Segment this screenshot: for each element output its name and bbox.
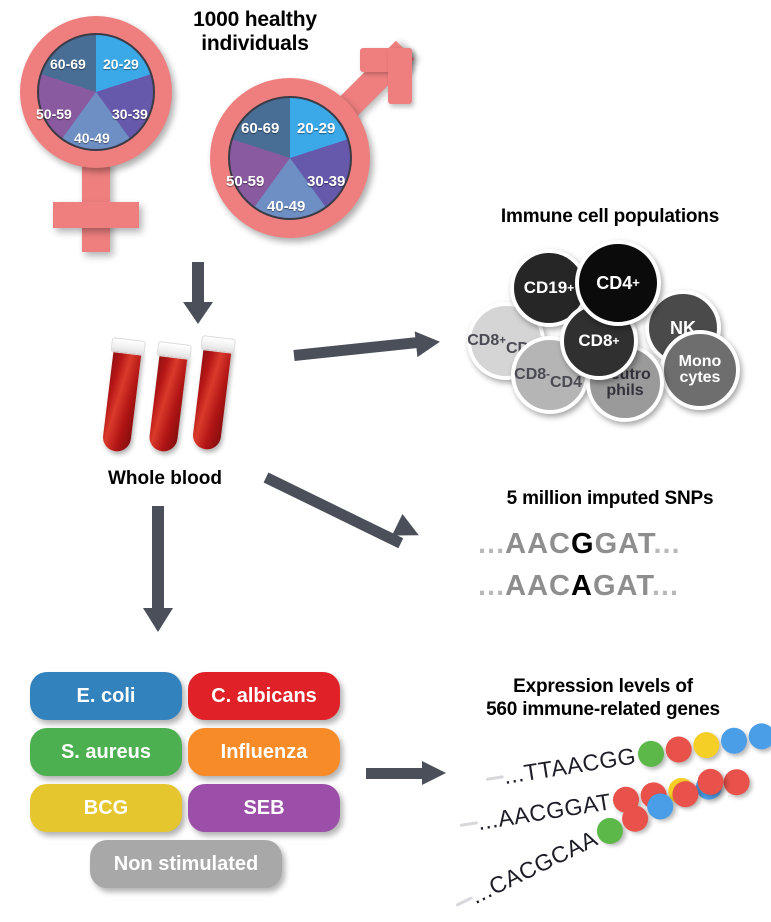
male-symbol-arrow-head-vertical <box>388 48 412 104</box>
pie-label-50-59-male: 50-59 <box>226 173 264 190</box>
expression-bead <box>719 725 749 755</box>
snp-before: AAC <box>505 570 571 602</box>
arrow-shaft <box>293 337 419 361</box>
cell-circle-monocytes: Monocytes <box>660 330 740 410</box>
arrow-shaft <box>366 768 424 779</box>
stimulus-box-non-stimulated[interactable]: Non stimulated <box>90 840 282 888</box>
pie-label-20-29-male: 20-29 <box>297 120 335 137</box>
arrow-shaft <box>264 473 404 549</box>
stimulus-box-bcg[interactable]: BCG <box>30 784 182 832</box>
arrow-blood-to-snps <box>266 468 456 558</box>
strand-tail <box>460 821 478 827</box>
pie-label-50-59-female: 50-59 <box>36 106 72 122</box>
tube-blood-fill <box>148 350 188 453</box>
immune-panel-title: Immune cell populations <box>455 206 765 228</box>
snp-sequence-row: ...AACGGAT... <box>478 528 681 561</box>
stimulus-box-s-aureus[interactable]: S. aureus <box>30 728 182 776</box>
arrow-head <box>183 302 213 324</box>
snp-variant: G <box>571 528 595 560</box>
expression-bead <box>746 721 771 751</box>
female-gender-symbol: 60-69 20-29 50-59 30-39 40-49 <box>8 12 198 252</box>
snp-after: GAT <box>593 570 652 602</box>
arrow-blood-to-immune-cells <box>294 330 454 370</box>
pie-label-20-29-female: 20-29 <box>103 56 139 72</box>
strand-tail <box>455 896 472 907</box>
arrow-head <box>422 761 446 785</box>
snp-prefix: ... <box>478 528 505 560</box>
snp-suffix: ... <box>652 570 679 602</box>
tube-blood-fill <box>191 344 231 451</box>
arrow-head <box>415 329 442 357</box>
immune-cell-cluster: CD19+ CD4+ NK CD8+CD4+ CD8+ Monocytes CD… <box>455 240 765 420</box>
blood-tube <box>101 346 141 453</box>
arrow-head <box>143 608 173 632</box>
snp-sequence-row: ...AACAGAT... <box>478 570 679 603</box>
expression-bead <box>663 734 693 764</box>
strand-tail <box>486 775 504 781</box>
expression-panel-title: Expression levels of 560 immune-related … <box>438 676 768 722</box>
pie-label-60-69-female: 60-69 <box>50 56 86 72</box>
whole-blood-tubes <box>108 340 248 458</box>
strand-sequence-text: ...CACGCAA <box>466 825 602 910</box>
expression-bead <box>636 739 666 769</box>
snp-suffix: ... <box>653 528 680 560</box>
snp-prefix: ... <box>478 570 505 602</box>
cell-circle-cd4-positive: CD4+ <box>575 240 661 326</box>
pie-label-30-39-female: 30-39 <box>112 106 148 122</box>
pie-label-40-49-female: 40-49 <box>74 130 110 146</box>
stimulus-box-e-coli[interactable]: E. coli <box>30 672 182 720</box>
expression-strands: ...TTAACGG ...AACGGAT ...CACGCAA <box>468 744 768 914</box>
expression-bead <box>722 767 752 797</box>
blood-tube <box>148 350 188 453</box>
arrow-shaft <box>192 262 204 306</box>
snp-sequences: ...AACGGAT... ...AACAGAT... <box>478 528 748 620</box>
arrow-shaft <box>152 506 164 612</box>
female-symbol-cross-bar <box>53 202 139 228</box>
stimuli-panel: E. coli C. albicans S. aureus Influenza … <box>30 672 350 898</box>
stimulus-box-seb[interactable]: SEB <box>188 784 340 832</box>
tube-blood-fill <box>101 346 141 453</box>
snp-variant: A <box>571 570 593 602</box>
pie-label-40-49-male: 40-49 <box>267 198 305 215</box>
snp-panel-title: 5 million imputed SNPs <box>455 488 765 510</box>
expression-title-line2: 560 immune-related genes <box>438 699 768 722</box>
expression-bead <box>691 730 721 760</box>
arrow-cohort-to-blood <box>182 262 214 324</box>
arrow-stimuli-to-expression <box>366 758 462 790</box>
pie-label-60-69-male: 60-69 <box>241 120 279 137</box>
snp-before: AAC <box>505 528 571 560</box>
whole-blood-label: Whole blood <box>80 468 250 490</box>
arrow-blood-to-stimuli <box>142 506 174 642</box>
stimulus-box-c-albicans[interactable]: C. albicans <box>188 672 340 720</box>
expression-title-line1: Expression levels of <box>438 676 768 699</box>
blood-tube <box>191 344 231 451</box>
study-design-figure: 1000 healthy individuals 60-69 20-29 50-… <box>0 0 771 922</box>
snp-after: GAT <box>595 528 654 560</box>
pie-label-30-39-male: 30-39 <box>307 173 345 190</box>
stimulus-box-influenza[interactable]: Influenza <box>188 728 340 776</box>
male-gender-symbol: 60-69 20-29 50-59 30-39 40-49 <box>200 46 430 246</box>
strand-sequence-text: ...TTAACGG <box>502 742 638 790</box>
